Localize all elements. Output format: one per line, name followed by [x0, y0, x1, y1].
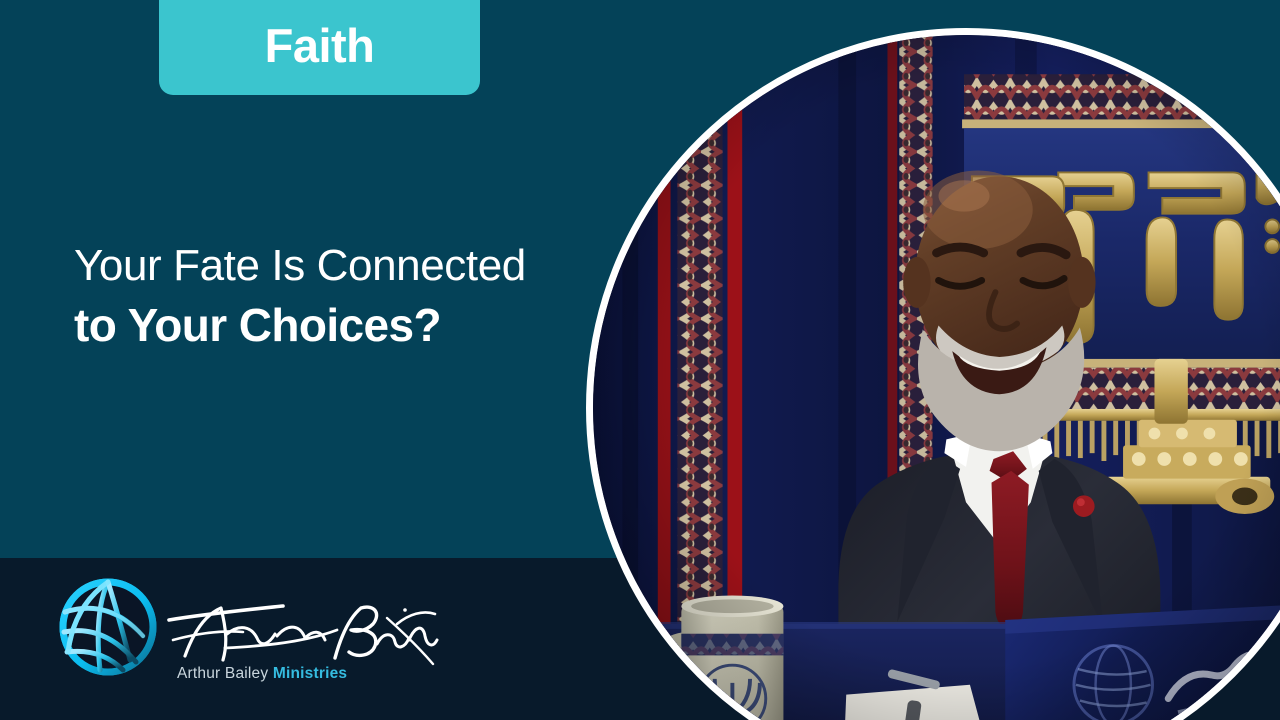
photo-scene-illustration: [593, 35, 1280, 720]
headline-line-2: to Your Choices?: [74, 298, 594, 353]
speaker-photo: [593, 35, 1280, 720]
brand-wordmark-name: Arthur Bailey: [177, 665, 268, 682]
headline: Your Fate Is Connected to Your Choices?: [74, 240, 594, 353]
thumbnail-canvas: Faith Your Fate Is Connected to Your Cho…: [0, 0, 1280, 720]
speaker-photo-circle: [586, 28, 1280, 720]
category-badge: Faith: [159, 0, 480, 95]
headline-line-1: Your Fate Is Connected: [74, 240, 594, 292]
brand-logo-lockup: Arthur Bailey Ministries: [55, 570, 375, 690]
brand-wordmark-suffix: Ministries: [273, 665, 347, 682]
category-badge-label: Faith: [265, 22, 375, 73]
brand-wordmark: Arthur Bailey Ministries: [177, 665, 347, 683]
arthur-bailey-signature: [165, 600, 440, 666]
globe-wireframe-icon: [55, 574, 161, 680]
